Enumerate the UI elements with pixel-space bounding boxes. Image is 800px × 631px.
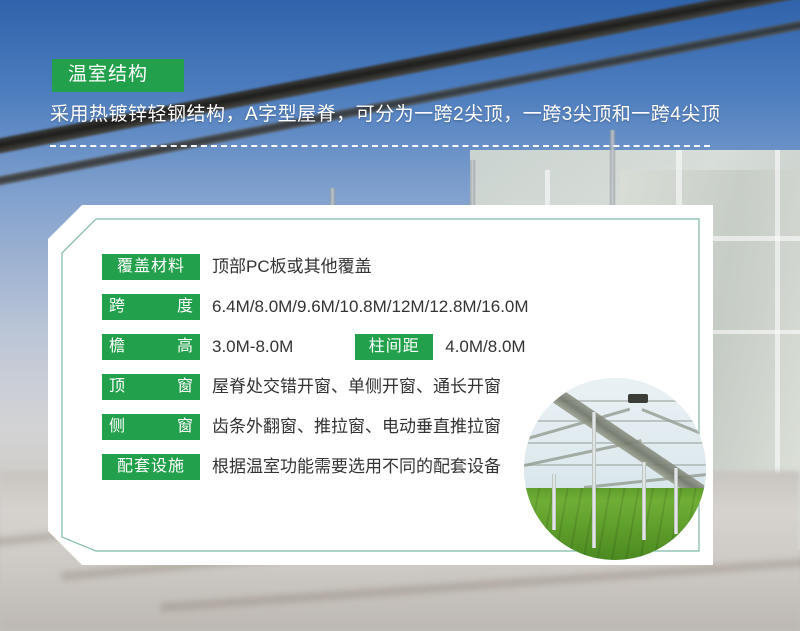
spec-label-char: 度 bbox=[177, 294, 193, 320]
photo-column bbox=[674, 468, 678, 534]
spec-label-badge: 跨 度 bbox=[102, 294, 200, 320]
spec-value: 根据温室功能需要选用不同的配套设备 bbox=[212, 456, 501, 478]
spec-label-char: 跨 bbox=[109, 294, 125, 320]
table-row: 顶 窗 屋脊处交错开窗、单侧开窗、通长开窗 bbox=[102, 367, 662, 407]
ground-furrow bbox=[161, 558, 800, 611]
spec-label-char: 侧 bbox=[109, 414, 125, 440]
spec-label-badge: 顶 窗 bbox=[102, 374, 200, 400]
spec-value: 齿条外翻窗、推拉窗、电动垂直推拉窗 bbox=[212, 416, 501, 438]
spec-value-secondary: 4.0M/8.0M bbox=[445, 336, 525, 358]
section-subtitle: 采用热镀锌轻钢结构，A字型屋脊，可分为一跨2尖顶，一跨3尖顶和一跨4尖顶 bbox=[50, 103, 720, 127]
table-row: 配套设施 根据温室功能需要选用不同的配套设备 bbox=[102, 447, 662, 487]
spec-label-char: 窗 bbox=[177, 374, 193, 400]
spec-label-badge: 侧 窗 bbox=[102, 414, 200, 440]
spec-value: 顶部PC板或其他覆盖 bbox=[212, 256, 372, 278]
spec-value: 3.0M-8.0M bbox=[212, 336, 293, 358]
dashed-divider bbox=[50, 145, 710, 147]
table-row: 侧 窗 齿条外翻窗、推拉窗、电动垂直推拉窗 bbox=[102, 407, 662, 447]
spec-label-char: 窗 bbox=[177, 414, 193, 440]
spec-value: 屋脊处交错开窗、单侧开窗、通长开窗 bbox=[212, 376, 501, 398]
spec-label-badge: 檐 高 bbox=[102, 334, 200, 360]
spec-label-char: 顶 bbox=[109, 374, 125, 400]
table-row: 跨 度 6.4M/8.0M/9.6M/10.8M/12M/12.8M/16.0M bbox=[102, 287, 662, 327]
table-row: 覆盖材料 顶部PC板或其他覆盖 bbox=[102, 247, 662, 287]
spec-label-char: 高 bbox=[177, 334, 193, 360]
spec-label-badge: 配套设施 bbox=[102, 454, 200, 480]
spec-label-badge-secondary: 柱间距 bbox=[355, 334, 433, 360]
spec-table: 覆盖材料 顶部PC板或其他覆盖 跨 度 6.4M/8.0M/9.6M/10.8M… bbox=[102, 247, 662, 487]
spec-label-badge: 覆盖材料 bbox=[102, 254, 200, 280]
spec-value: 6.4M/8.0M/9.6M/10.8M/12M/12.8M/16.0M bbox=[212, 296, 529, 318]
product-spec-banner: 温室结构 采用热镀锌轻钢结构，A字型屋脊，可分为一跨2尖顶，一跨3尖顶和一跨4尖… bbox=[0, 0, 800, 631]
table-row: 檐 高 3.0M-8.0M 柱间距 4.0M/8.0M bbox=[102, 327, 662, 367]
section-title-badge: 温室结构 bbox=[52, 59, 184, 92]
spec-label-char: 檐 bbox=[109, 334, 125, 360]
